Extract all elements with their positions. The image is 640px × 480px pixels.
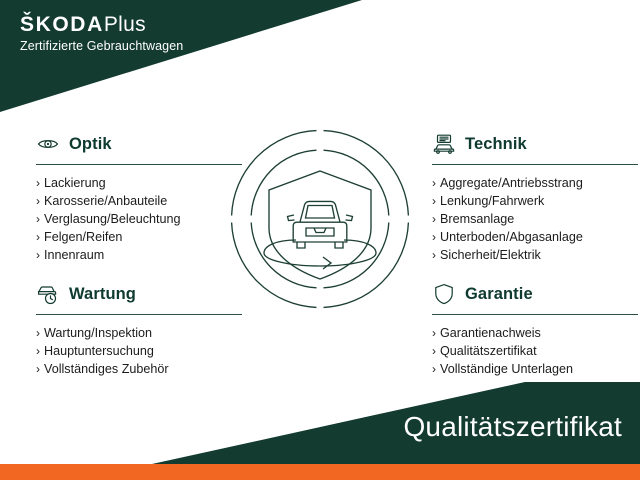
list-item-label: Garantienachweis [440,324,541,342]
list-item-label: Felgen/Reifen [44,228,122,246]
list-item: ›Unterboden/Abgasanlage [432,228,638,246]
logo-primary-line: ŠKODAPlus [20,12,183,37]
list-item: ›Qualitätszertifikat [432,342,638,360]
list-item-label: Unterboden/Abgasanlage [440,228,583,246]
list-item-label: Wartung/Inspektion [44,324,152,342]
section-wartung: Wartung ›Wartung/Inspektion ›Hauptunters… [36,280,242,378]
section-wartung-header: Wartung [36,280,242,308]
chevron-right-icon: › [36,210,40,228]
chevron-right-icon: › [432,360,436,378]
section-technik-header: Technik [432,130,638,158]
car-service-clock-icon [36,282,60,306]
footer-title: Qualitätszertifikat [403,411,622,443]
list-item-label: Karosserie/Anbauteile [44,192,167,210]
section-optik-list: ›Lackierung ›Karosserie/Anbauteile ›Verg… [36,174,242,264]
list-item-label: Vollständige Unterlagen [440,360,573,378]
left-column: Optik ›Lackierung ›Karosserie/Anbauteile… [36,130,242,378]
brand-logo: ŠKODAPlus Zertifizierte Gebrauchtwagen [20,12,183,54]
outer-segmented-ring [232,131,409,308]
section-wartung-title: Wartung [69,285,136,304]
list-item: ›Sicherheit/Elektrik [432,246,638,264]
logo-tagline: Zertifizierte Gebrauchtwagen [20,38,183,54]
certificate-page: ŠKODAPlus Zertifizierte Gebrauchtwagen O… [0,0,640,480]
list-item-label: Bremsanlage [440,210,514,228]
list-item-label: Lenkung/Fahrwerk [440,192,544,210]
logo-plus-text: Plus [104,13,146,36]
list-item: ›Vollständige Unterlagen [432,360,638,378]
section-garantie-header: Garantie [432,280,638,308]
section-wartung-divider [36,314,242,315]
chevron-right-icon: › [432,192,436,210]
shield-car-rings-emblem [228,127,412,311]
list-item: ›Bremsanlage [432,210,638,228]
section-optik-title: Optik [69,135,112,154]
shield-icon [432,282,456,306]
list-item: ›Lackierung [36,174,242,192]
list-item: ›Felgen/Reifen [36,228,242,246]
footer-orange-band [0,464,640,480]
section-technik-divider [432,164,638,165]
list-item-label: Innenraum [44,246,104,264]
list-item-label: Vollständiges Zubehör [44,360,169,378]
chevron-right-icon: › [36,174,40,192]
chevron-right-icon: › [432,174,436,192]
section-garantie: Garantie ›Garantienachweis ›Qualitätszer… [432,280,638,378]
list-item-label: Hauptuntersuchung [44,342,154,360]
section-technik-title: Technik [465,135,527,154]
list-item: ›Aggregate/Antriebsstrang [432,174,638,192]
chevron-right-icon: › [36,324,40,342]
section-garantie-divider [432,314,638,315]
list-item-label: Qualitätszertifikat [440,342,537,360]
section-technik-list: ›Aggregate/Antriebsstrang ›Lenkung/Fahrw… [432,174,638,264]
chevron-right-icon: › [432,246,436,264]
car-front-icon [432,132,456,156]
list-item: ›Lenkung/Fahrwerk [432,192,638,210]
list-item: ›Vollständiges Zubehör [36,360,242,378]
chevron-right-icon: › [432,210,436,228]
chevron-right-icon: › [36,228,40,246]
logo-brand-text: ŠKODA [20,13,104,36]
chevron-right-icon: › [432,342,436,360]
car-front-outline [288,201,353,248]
eye-icon [36,132,60,156]
list-item: ›Karosserie/Anbauteile [36,192,242,210]
list-item-label: Verglasung/Beleuchtung [44,210,181,228]
section-optik-divider [36,164,242,165]
chevron-right-icon: › [36,360,40,378]
section-garantie-title: Garantie [465,285,533,304]
chevron-right-icon: › [36,192,40,210]
section-technik: Technik ›Aggregate/Antriebsstrang ›Lenku… [432,130,638,264]
list-item: ›Wartung/Inspektion [36,324,242,342]
chevron-right-icon: › [432,228,436,246]
section-optik: Optik ›Lackierung ›Karosserie/Anbauteile… [36,130,242,264]
list-item-label: Aggregate/Antriebsstrang [440,174,583,192]
section-garantie-list: ›Garantienachweis ›Qualitätszertifikat ›… [432,324,638,378]
list-item-label: Sicherheit/Elektrik [440,246,541,264]
orbit-ellipse [264,240,376,266]
right-column: Technik ›Aggregate/Antriebsstrang ›Lenku… [432,130,638,378]
chevron-right-icon: › [36,246,40,264]
list-item-label: Lackierung [44,174,106,192]
list-item: ›Hauptuntersuchung [36,342,242,360]
section-wartung-list: ›Wartung/Inspektion ›Hauptuntersuchung ›… [36,324,242,378]
list-item: ›Garantienachweis [432,324,638,342]
chevron-right-icon: › [432,324,436,342]
orbit-arrow-head [323,257,331,269]
list-item: ›Innenraum [36,246,242,264]
chevron-right-icon: › [36,342,40,360]
list-item: ›Verglasung/Beleuchtung [36,210,242,228]
section-optik-header: Optik [36,130,242,158]
